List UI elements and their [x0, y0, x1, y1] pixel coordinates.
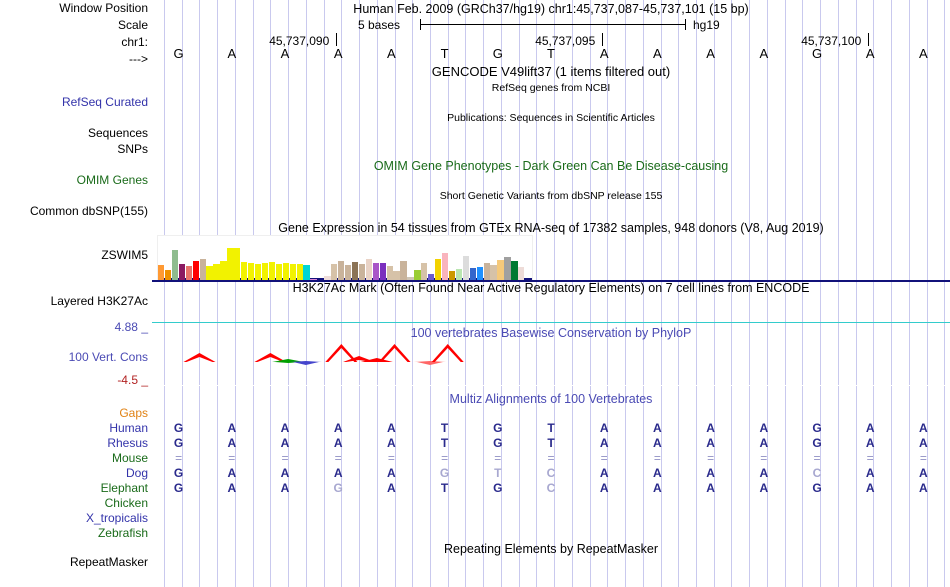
- multiz-base: G: [170, 437, 188, 450]
- label-gaps[interactable]: Gaps: [119, 407, 148, 419]
- phylop-peak: [379, 344, 411, 362]
- gtex-tissue-bar[interactable]: [269, 262, 275, 282]
- multiz-base: =: [382, 452, 400, 465]
- multiz-base: =: [436, 452, 454, 465]
- multiz-base: A: [648, 467, 666, 480]
- multiz-base: G: [436, 467, 454, 480]
- gtex-tissue-bar[interactable]: [220, 261, 226, 282]
- label-common-dbsnp[interactable]: Common dbSNP(155): [30, 205, 148, 217]
- multiz-base: A: [223, 482, 241, 495]
- multiz-row-human[interactable]: GAAAATGTAAAAGAA: [152, 422, 950, 435]
- multiz-base: A: [329, 437, 347, 450]
- multiz-base: A: [861, 482, 879, 495]
- ruler-base: A: [648, 46, 666, 62]
- multiz-base: =: [276, 452, 294, 465]
- multiz-row-x_tropicalis[interactable]: [152, 512, 950, 525]
- gtex-tissue-bar[interactable]: [497, 260, 503, 282]
- label-sequences[interactable]: Sequences: [88, 127, 148, 139]
- ruler-base: A: [755, 46, 773, 62]
- multiz-base: =: [170, 452, 188, 465]
- conservation-bottom-rule: [152, 385, 950, 386]
- multiz-base: A: [329, 422, 347, 435]
- label-species-rhesus[interactable]: Rhesus: [107, 437, 148, 449]
- multiz-base: A: [755, 422, 773, 435]
- repeatmasker-track-text: Repeating Elements by RepeatMasker: [152, 542, 950, 556]
- gtex-tissue-bar[interactable]: [435, 259, 441, 282]
- multiz-base: T: [436, 437, 454, 450]
- multiz-base: A: [702, 482, 720, 495]
- multiz-base: G: [170, 482, 188, 495]
- gtex-tissue-bar[interactable]: [352, 262, 358, 282]
- coordinate-tick: [868, 33, 869, 46]
- multiz-base: T: [436, 422, 454, 435]
- multiz-track-text: Multiz Alignments of 100 Vertebrates: [152, 392, 950, 406]
- multiz-base: =: [702, 452, 720, 465]
- label-species-dog[interactable]: Dog: [126, 467, 148, 479]
- multiz-base: A: [382, 422, 400, 435]
- ruler-base: A: [223, 46, 241, 62]
- label-species-mouse[interactable]: Mouse: [112, 452, 148, 464]
- gtex-expression-barchart[interactable]: [157, 235, 533, 282]
- label-strand: --->: [129, 53, 148, 65]
- multiz-base: A: [702, 467, 720, 480]
- multiz-base: A: [329, 467, 347, 480]
- ruler-base: A: [276, 46, 294, 62]
- multiz-base: A: [276, 467, 294, 480]
- track-data-area[interactable]: Human Feb. 2009 (GRCh37/hg19) chr1:45,73…: [152, 0, 950, 587]
- label-species-xtropicalis[interactable]: X_tropicalis: [86, 512, 148, 524]
- ruler-base: A: [595, 46, 613, 62]
- conservation-track-text: 100 vertebrates Basewise Conservation by…: [152, 326, 950, 340]
- label-species-elephant[interactable]: Elephant: [101, 482, 148, 494]
- ruler-base: G: [170, 46, 188, 62]
- coordinate-tick: [336, 33, 337, 46]
- multiz-base: G: [170, 422, 188, 435]
- multiz-base: A: [861, 467, 879, 480]
- ruler-base-letters: GAAAATGTAAAAGAA: [152, 46, 950, 62]
- gtex-tissue-bar[interactable]: [400, 261, 406, 282]
- coordinate-tick: [602, 33, 603, 46]
- scale-tick-left: [420, 19, 421, 30]
- label-cons-max: 4.88 _: [115, 321, 148, 333]
- multiz-base: C: [542, 467, 560, 480]
- multiz-base: A: [914, 422, 932, 435]
- multiz-base: A: [755, 437, 773, 450]
- gtex-tissue-bar[interactable]: [366, 259, 372, 282]
- multiz-base: T: [542, 422, 560, 435]
- multiz-base: A: [382, 482, 400, 495]
- multiz-base: A: [861, 437, 879, 450]
- scale-tick-right: [685, 19, 686, 30]
- multiz-row-zebrafish[interactable]: [152, 527, 950, 540]
- phylop-peak: [414, 361, 446, 365]
- label-gtex-gene[interactable]: ZSWIM5: [101, 249, 148, 261]
- assembly-db-label: hg19: [693, 18, 720, 32]
- phylop-peak: [432, 344, 464, 362]
- label-snps[interactable]: SNPs: [117, 143, 148, 155]
- multiz-base: =: [489, 452, 507, 465]
- multiz-base: =: [648, 452, 666, 465]
- multiz-base: A: [595, 482, 613, 495]
- gtex-tissue-bar[interactable]: [234, 248, 240, 282]
- scale-bar: [420, 24, 685, 25]
- multiz-base: A: [755, 482, 773, 495]
- multiz-base: G: [808, 437, 826, 450]
- phylop-conservation-plot[interactable]: [152, 340, 950, 386]
- multiz-base: A: [702, 437, 720, 450]
- multiz-base: =: [329, 452, 347, 465]
- multiz-base: A: [382, 467, 400, 480]
- multiz-base: A: [276, 437, 294, 450]
- ruler-base: A: [861, 46, 879, 62]
- multiz-base: =: [223, 452, 241, 465]
- ruler-base: G: [808, 46, 826, 62]
- track-label-column: Window Position Scale chr1: ---> RefSeq …: [0, 0, 152, 587]
- phylop-peaks-svg: [152, 340, 950, 386]
- h3k27ac-track-text: H3K27Ac Mark (Often Found Near Active Re…: [152, 281, 950, 295]
- ruler-base: T: [436, 46, 454, 62]
- scale-bases-label: 5 bases: [358, 18, 400, 32]
- gtex-tissue-bar[interactable]: [172, 250, 178, 282]
- multiz-base: G: [489, 482, 507, 495]
- multiz-base: =: [914, 452, 932, 465]
- multiz-base: A: [595, 422, 613, 435]
- label-cons-min: -4.5 _: [117, 374, 148, 386]
- multiz-base: =: [861, 452, 879, 465]
- multiz-row-mouse[interactable]: ===============: [152, 452, 950, 465]
- multiz-base: T: [436, 482, 454, 495]
- gtex-tissue-bar[interactable]: [463, 256, 469, 282]
- label-omim-genes[interactable]: OMIM Genes: [77, 174, 148, 186]
- multiz-base: C: [542, 482, 560, 495]
- label-scale: Scale: [118, 19, 148, 31]
- label-layered-h3k27ac[interactable]: Layered H3K27Ac: [51, 295, 148, 307]
- refseq-track-text: RefSeq genes from NCBI: [152, 82, 950, 94]
- multiz-base: A: [914, 437, 932, 450]
- multiz-base: =: [542, 452, 560, 465]
- multiz-base: C: [808, 467, 826, 480]
- multiz-row-dog[interactable]: GAAAAGTCAAAACAA: [152, 467, 950, 480]
- label-species-zebrafish[interactable]: Zebrafish: [98, 527, 148, 539]
- multiz-row-rhesus[interactable]: GAAAATGTAAAAGAA: [152, 437, 950, 450]
- gencode-track-text: GENCODE V49lift37 (1 items filtered out): [152, 64, 950, 79]
- label-species-chicken[interactable]: Chicken: [105, 497, 148, 509]
- label-refseq-curated[interactable]: RefSeq Curated: [62, 96, 148, 108]
- genome-browser[interactable]: Window Position Scale chr1: ---> RefSeq …: [0, 0, 950, 587]
- assembly-position-title: Human Feb. 2009 (GRCh37/hg19) chr1:45,73…: [152, 2, 950, 16]
- multiz-base: A: [223, 437, 241, 450]
- multiz-base: A: [595, 467, 613, 480]
- multiz-row-elephant[interactable]: GAAGATGCAAAAGAA: [152, 482, 950, 495]
- label-chrom: chr1:: [121, 36, 148, 48]
- gtex-tissue-bar[interactable]: [442, 253, 448, 282]
- multiz-base: G: [489, 437, 507, 450]
- multiz-base: =: [808, 452, 826, 465]
- gtex-tissue-bar[interactable]: [338, 261, 344, 282]
- multiz-base: A: [648, 437, 666, 450]
- label-repeatmasker[interactable]: RepeatMasker: [70, 556, 148, 568]
- ruler-base: A: [329, 46, 347, 62]
- gtex-tissue-bar[interactable]: [241, 262, 247, 282]
- multiz-base: G: [808, 482, 826, 495]
- multiz-base: A: [861, 422, 879, 435]
- multiz-base: A: [755, 467, 773, 480]
- gtex-tissue-bar[interactable]: [504, 257, 510, 282]
- multiz-base: G: [329, 482, 347, 495]
- gtex-tissue-bar[interactable]: [200, 259, 206, 282]
- multiz-base: T: [542, 437, 560, 450]
- multiz-base: T: [489, 467, 507, 480]
- multiz-base: G: [808, 422, 826, 435]
- ruler-base: T: [542, 46, 560, 62]
- label-window-position: Window Position: [59, 2, 148, 14]
- multiz-base: A: [648, 482, 666, 495]
- multiz-base: A: [595, 437, 613, 450]
- gtex-tissue-bar[interactable]: [227, 248, 233, 282]
- dbsnp-track-text: Short Genetic Variants from dbSNP releas…: [152, 190, 950, 202]
- ruler-base: A: [914, 46, 932, 62]
- label-species-human[interactable]: Human: [109, 422, 148, 434]
- multiz-base: A: [276, 482, 294, 495]
- gtex-tissue-bar[interactable]: [193, 261, 199, 282]
- multiz-base: =: [755, 452, 773, 465]
- multiz-row-chicken[interactable]: [152, 497, 950, 510]
- publications-track-text: Publications: Sequences in Scientific Ar…: [152, 112, 950, 124]
- gtex-tissue-bar[interactable]: [511, 261, 517, 282]
- multiz-base: A: [223, 467, 241, 480]
- conservation-top-rule: [152, 322, 950, 323]
- ruler-base: G: [489, 46, 507, 62]
- omim-track-text: OMIM Gene Phenotypes - Dark Green Can Be…: [152, 159, 950, 173]
- ruler-base: A: [382, 46, 400, 62]
- multiz-base: A: [914, 482, 932, 495]
- multiz-base: A: [276, 422, 294, 435]
- multiz-base: G: [170, 467, 188, 480]
- phylop-peak: [183, 353, 215, 362]
- gtex-track-text: Gene Expression in 54 tissues from GTEx …: [152, 221, 950, 235]
- multiz-base: A: [702, 422, 720, 435]
- multiz-base: A: [382, 437, 400, 450]
- multiz-base: =: [595, 452, 613, 465]
- ruler-base: A: [702, 46, 720, 62]
- multiz-base: A: [223, 422, 241, 435]
- multiz-base: G: [489, 422, 507, 435]
- multiz-base: A: [914, 467, 932, 480]
- label-100-vert-cons[interactable]: 100 Vert. Cons: [69, 351, 148, 363]
- multiz-base: A: [648, 422, 666, 435]
